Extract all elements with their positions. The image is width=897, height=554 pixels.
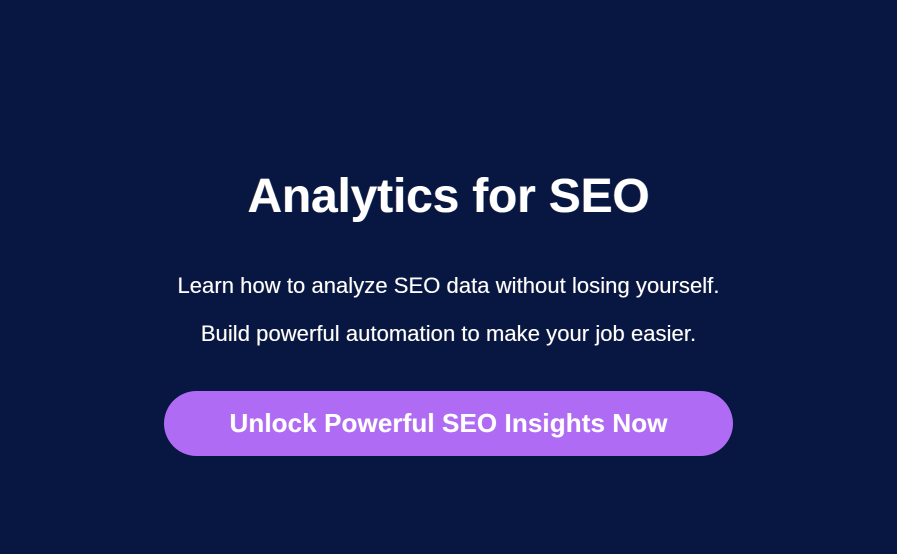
- hero-section: Analytics for SEO Learn how to analyze S…: [0, 0, 897, 554]
- page-title: Analytics for SEO: [0, 168, 897, 226]
- unlock-seo-insights-button[interactable]: Unlock Powerful SEO Insights Now: [164, 391, 733, 456]
- hero-subtitle: Learn how to analyze SEO data without lo…: [0, 262, 897, 358]
- cta-container: Unlock Powerful SEO Insights Now: [0, 391, 897, 456]
- subtitle-line-1: Learn how to analyze SEO data without lo…: [0, 262, 897, 310]
- subtitle-line-2: Build powerful automation to make your j…: [0, 310, 897, 358]
